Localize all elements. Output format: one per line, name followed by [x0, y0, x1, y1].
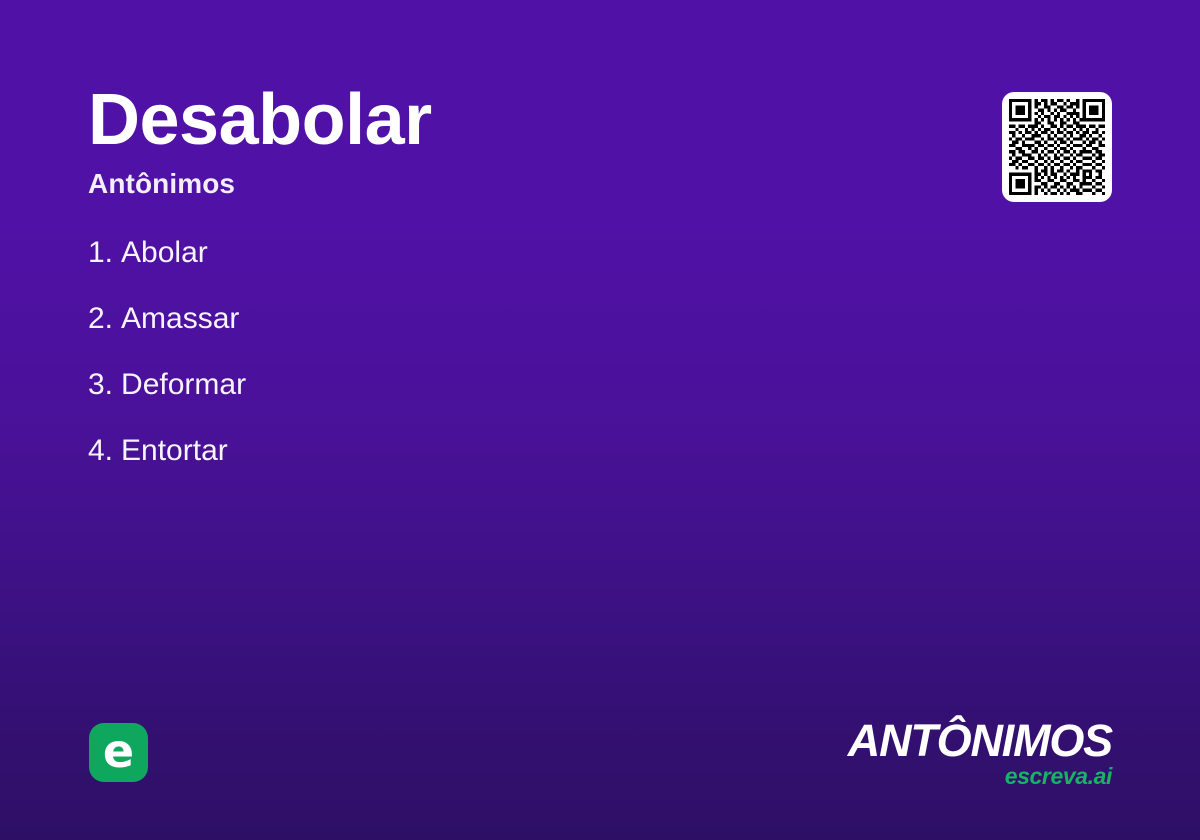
list-item-label: Entortar: [121, 434, 228, 467]
list-item: 1.Abolar: [88, 238, 788, 268]
logo-secondary-text: escreva.ai: [848, 765, 1112, 788]
brand-mark-letter: e: [103, 728, 134, 774]
logo-primary-text: ANTÔNIMOS: [848, 720, 1112, 763]
list-item-index: 2.: [88, 302, 113, 335]
list-item: 4.Entortar: [88, 436, 788, 466]
antonym-card: Desabolar Antônimos 1.Abolar 2.Amassar 3…: [0, 0, 1200, 840]
antonym-list: 1.Abolar 2.Amassar 3.Deformar 4.Entortar: [88, 238, 788, 502]
list-item-label: Amassar: [121, 302, 239, 335]
qr-code-icon[interactable]: [1002, 92, 1112, 202]
qr-code-canvas: [1009, 99, 1105, 195]
heading-block: Desabolar Antônimos: [88, 84, 908, 198]
escreva-logo-icon[interactable]: e: [89, 723, 148, 782]
list-item-index: 1.: [88, 236, 113, 269]
page-title: Desabolar: [88, 84, 908, 156]
list-item: 3.Deformar: [88, 370, 788, 400]
category-subtitle: Antônimos: [88, 170, 908, 198]
list-item: 2.Amassar: [88, 304, 788, 334]
list-item-index: 4.: [88, 434, 113, 467]
list-item-label: Abolar: [121, 236, 208, 269]
logo-lockup[interactable]: ANTÔNIMOS escreva.ai: [848, 720, 1112, 788]
list-item-index: 3.: [88, 368, 113, 401]
list-item-label: Deformar: [121, 368, 246, 401]
